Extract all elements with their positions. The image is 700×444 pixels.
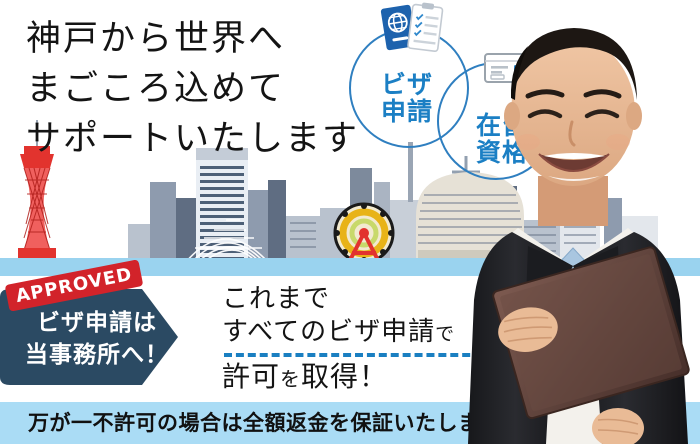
results-line-2: すべてのビザ申請で: [222, 315, 494, 351]
arrow-line-2: 当事務所へ！: [22, 339, 172, 371]
results-line-2-suffix: で: [435, 323, 455, 345]
headline-line-3: サポートいたします: [26, 114, 359, 164]
results-line-3: 許可を取得！: [222, 360, 494, 396]
visa-service-banner: 神戸から世界へ まごころ込めて サポートいたします ビザ 申請 在留 資格: [0, 0, 700, 444]
results-line-3-particle: を: [280, 367, 301, 391]
results-copy: これまで すべてのビザ申請で 許可を取得！: [222, 283, 494, 396]
results-line-3-main: 許可: [222, 360, 280, 393]
headline-line-1: 神戸から世界へ: [26, 14, 359, 64]
arrow-banner-text: ビザ申請は 当事務所へ！: [22, 307, 172, 371]
arrow-line-1: ビザ申請は: [22, 307, 172, 339]
passport-clipboard-icon: [376, 2, 448, 58]
page-title: 神戸から世界へ まごころ込めて サポートいたします: [26, 14, 359, 164]
results-line-1: これまで: [222, 283, 494, 315]
headline-line-2: まごころ込めて: [26, 64, 359, 114]
results-line-2-main: すべてのビザ申請: [222, 317, 435, 347]
blue-dashed-underline: [224, 353, 494, 357]
guarantee-main: 万が一不許可の場合は全額返金を保証いたします: [28, 411, 501, 435]
results-line-3-end: 取得！: [301, 360, 388, 393]
circle-visa-label: ビザ 申請: [381, 71, 433, 125]
staff-photo: [466, 0, 700, 444]
